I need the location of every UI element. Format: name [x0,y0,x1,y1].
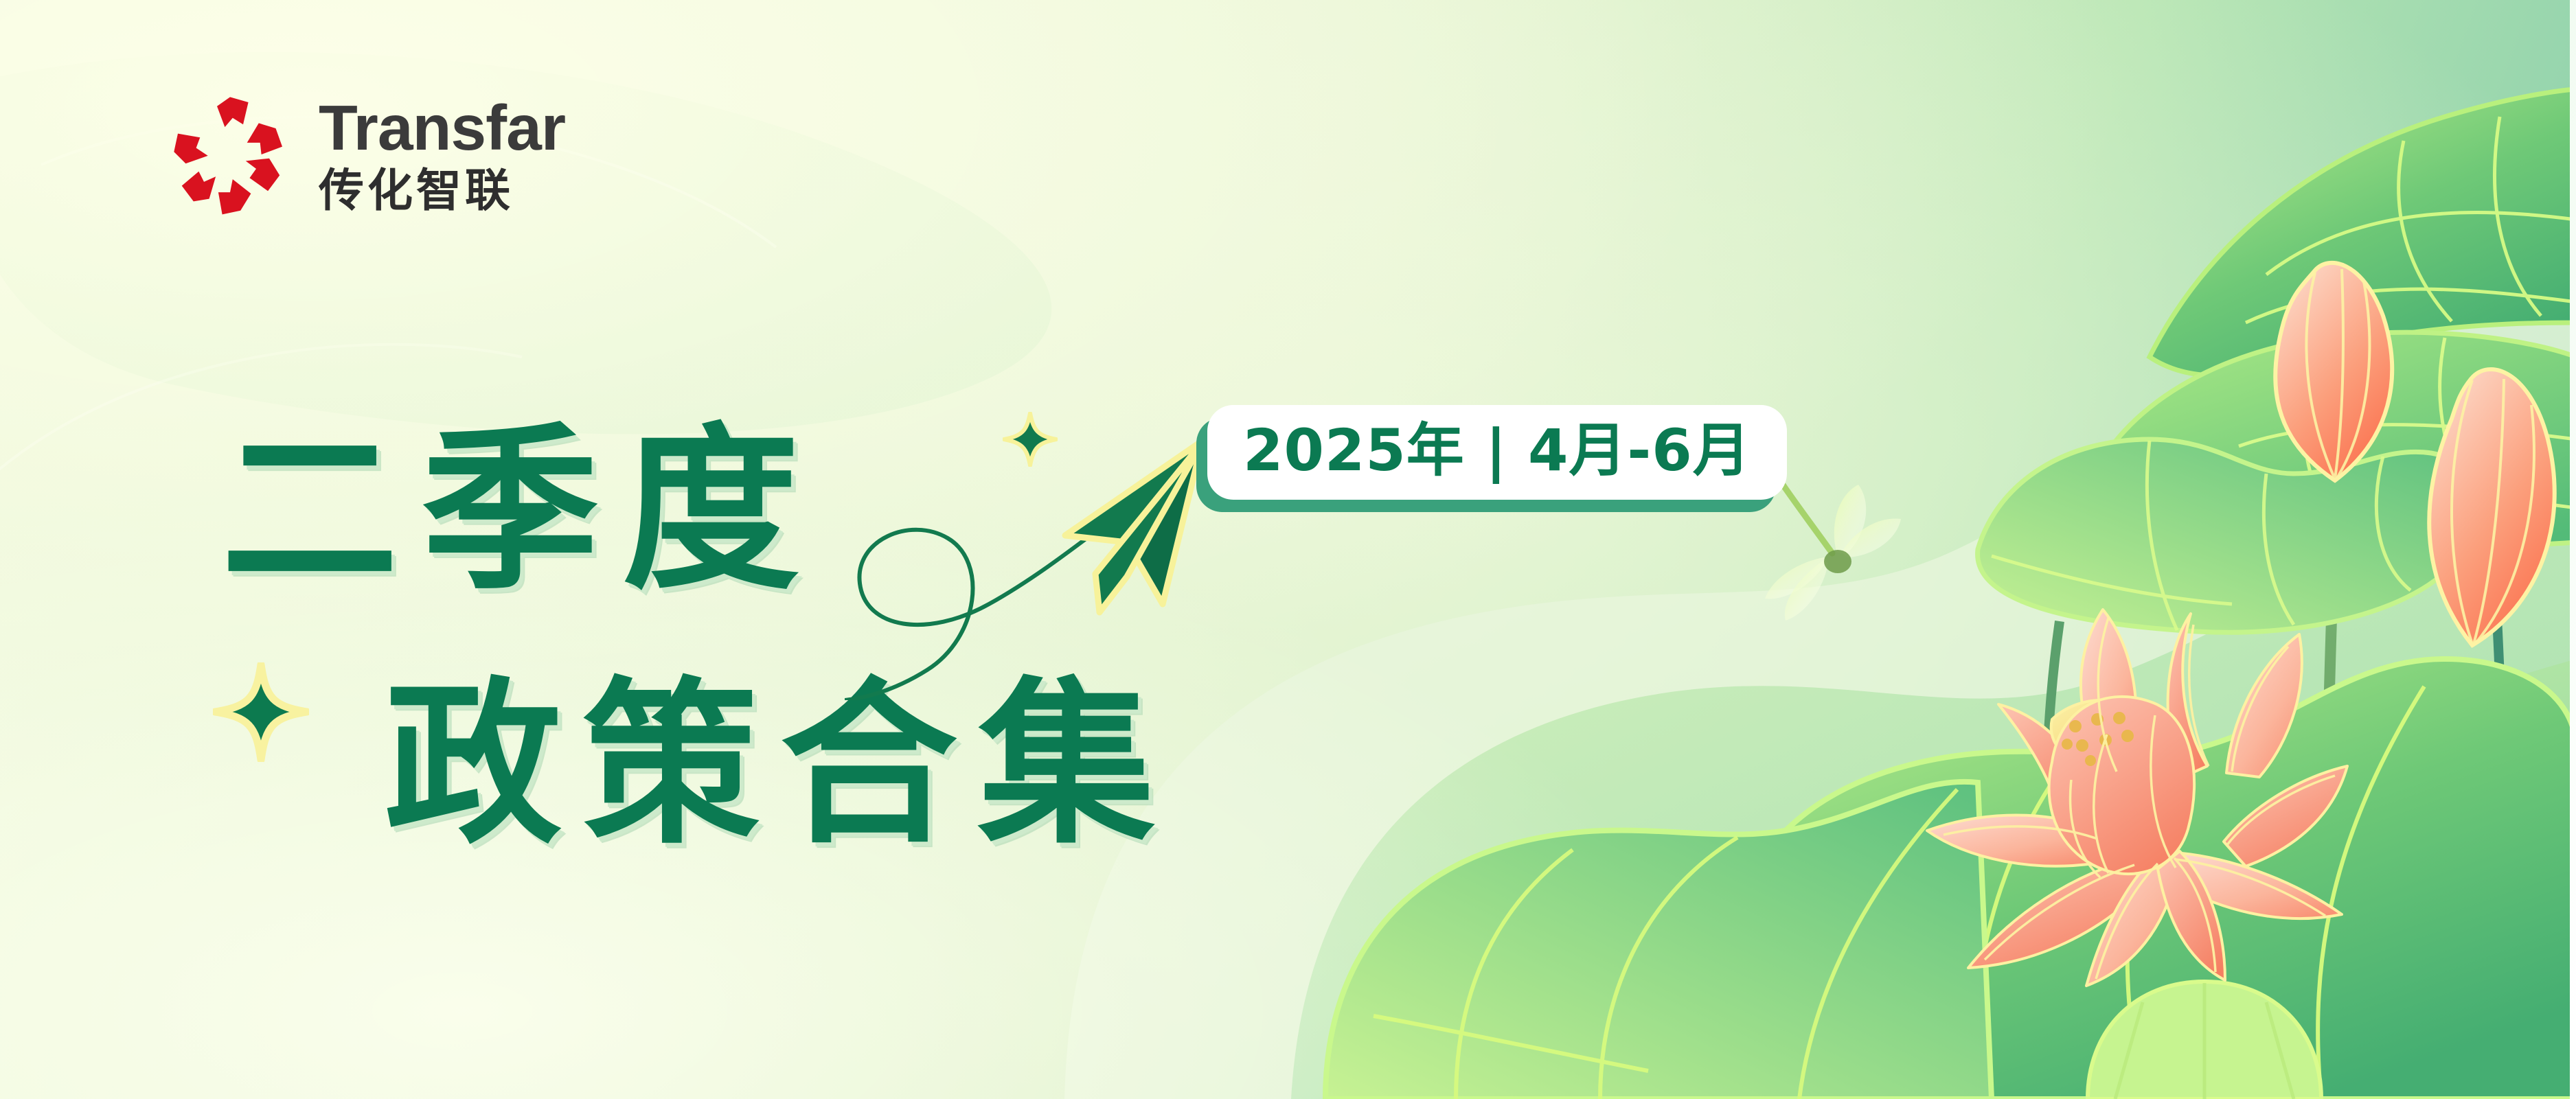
transfar-pinwheel-mark [165,89,295,220]
date-range-badge[interactable]: 2025年 | 4月-6月 [1207,405,1787,500]
transfar-logo[interactable]: Transfar 传化智联 [165,89,565,220]
badge-text: 2025年 | 4月-6月 [1243,420,1751,481]
right-edge-strip [2570,0,2576,1099]
logo-name-cn: 传化智联 [319,168,565,213]
badge-plate: 2025年 | 4月-6月 [1207,405,1787,500]
logo-name-en: Transfar [319,96,565,160]
quarterly-policy-banner: Transfar 传化智联 二季度 政策合集 [0,0,2576,1099]
